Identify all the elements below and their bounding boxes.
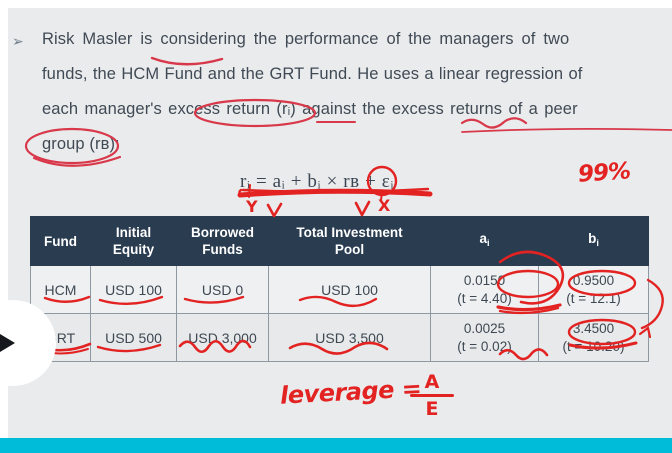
column-header-beta: bi bbox=[539, 217, 649, 266]
cell-total-investment-pool: USD 100 bbox=[269, 266, 431, 314]
header-label-pool: Pool bbox=[335, 242, 364, 257]
regression-formula: rᵢ = aᵢ + bᵢ × rʙ + εᵢ bbox=[240, 171, 394, 193]
cell-beta-value: 3.4500 bbox=[542, 320, 645, 338]
column-header-borrowed-funds: Borrowed Funds bbox=[177, 217, 269, 266]
cell-total-investment-pool: USD 3,500 bbox=[269, 314, 431, 362]
cell-alpha-value: 0.0150 bbox=[434, 272, 535, 290]
slide-container: ➢ Risk Masler is considering the perform… bbox=[0, 0, 672, 453]
paragraph-line-3: each manager's excess return (rᵢ) agains… bbox=[20, 92, 660, 127]
cell-borrowed-funds: USD 3,000 bbox=[177, 314, 269, 362]
cell-borrowed-funds: USD 0 bbox=[177, 266, 269, 314]
cell-beta: 3.4500 (t = 10.20) bbox=[539, 314, 649, 362]
annotation-leverage-word: leverage bbox=[279, 376, 394, 410]
header-sub-a: i bbox=[487, 238, 490, 248]
cell-beta-tstat: (t = 12.1) bbox=[542, 290, 645, 308]
header-label-total-investment: Total Investment bbox=[296, 225, 402, 240]
paragraph-line-4: group (rʙ): bbox=[20, 127, 660, 162]
cell-beta-value: 0.9500 bbox=[542, 272, 645, 290]
table-row: HCM USD 100 USD 0 USD 100 0.0150 (t = 4.… bbox=[31, 266, 649, 314]
annotation-y-label: Y bbox=[246, 197, 258, 216]
cell-alpha: 0.0025 (t = 0.02) bbox=[431, 314, 539, 362]
play-icon[interactable] bbox=[0, 334, 15, 352]
column-header-fund: Fund bbox=[31, 217, 91, 266]
bottom-accent-band bbox=[0, 438, 672, 453]
header-label-equity: Equity bbox=[113, 242, 154, 257]
header-label-funds: Funds bbox=[202, 242, 243, 257]
cell-fund: HCM bbox=[31, 266, 91, 314]
annotation-leverage-fraction: A E bbox=[410, 372, 454, 419]
annotation-leverage-denominator: E bbox=[426, 398, 439, 420]
fraction-bar-icon bbox=[410, 394, 454, 397]
paragraph-line-2: funds, the HCM Fund and the GRT Fund. He… bbox=[20, 57, 660, 92]
header-label-borrowed: Borrowed bbox=[191, 225, 254, 240]
header-sub-b: i bbox=[596, 238, 599, 248]
cell-beta-tstat: (t = 10.20) bbox=[542, 338, 645, 356]
cell-beta: 0.9500 (t = 12.1) bbox=[539, 266, 649, 314]
cell-alpha-tstat: (t = 0.02) bbox=[434, 338, 535, 356]
cell-alpha-value: 0.0025 bbox=[434, 320, 535, 338]
header-label-fund: Fund bbox=[44, 234, 77, 249]
cell-alpha-tstat: (t = 4.40) bbox=[434, 290, 535, 308]
paragraph-line-1: Risk Masler is considering the performan… bbox=[20, 22, 660, 57]
column-header-initial-equity: Initial Equity bbox=[91, 217, 177, 266]
fund-regression-table: Fund Initial Equity Borrowed Funds Total… bbox=[30, 216, 649, 362]
annotation-x-label: X bbox=[378, 196, 390, 215]
table-header-row: Fund Initial Equity Borrowed Funds Total… bbox=[31, 217, 649, 266]
annotation-leverage-numerator: A bbox=[425, 371, 440, 393]
column-header-alpha: ai bbox=[431, 217, 539, 266]
cell-initial-equity: USD 500 bbox=[91, 314, 177, 362]
header-label-initial: Initial bbox=[116, 225, 151, 240]
table-row: GRT USD 500 USD 3,000 USD 3,500 0.0025 (… bbox=[31, 314, 649, 362]
column-header-total-investment-pool: Total Investment Pool bbox=[269, 217, 431, 266]
header-label-a: a bbox=[479, 231, 487, 246]
annotation-percent: 99% bbox=[577, 158, 631, 188]
paragraph-block: Risk Masler is considering the performan… bbox=[20, 22, 660, 162]
cell-initial-equity: USD 100 bbox=[91, 266, 177, 314]
cell-alpha: 0.0150 (t = 4.40) bbox=[431, 266, 539, 314]
